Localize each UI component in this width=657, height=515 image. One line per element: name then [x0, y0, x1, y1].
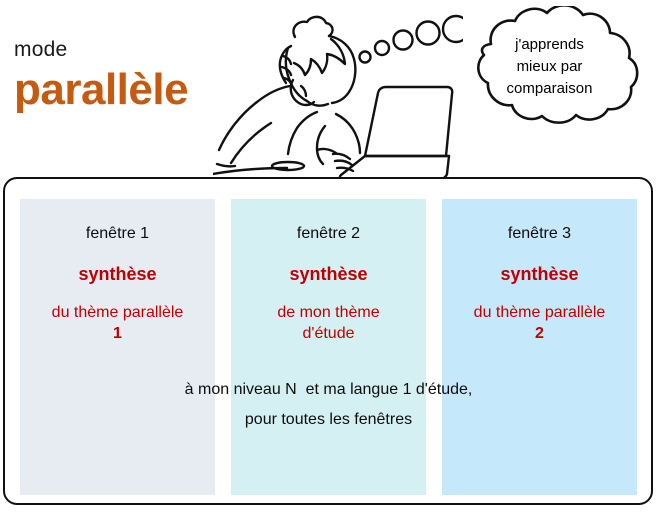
mode-label: mode — [14, 38, 67, 62]
theme-description-1: du thème parallèle 1 — [20, 302, 215, 344]
main-panel: fenêtre 1 synthèse du thème parallèle 1 … — [3, 177, 653, 505]
theme-description-3: du thème parallèle 2 — [442, 302, 637, 344]
window-label-1: fenêtre 1 — [20, 225, 215, 243]
window-label-3: fenêtre 3 — [442, 225, 637, 243]
window-column-2[interactable]: fenêtre 2 synthèse de mon thème d'étude — [231, 199, 426, 495]
synthese-heading-3: synthèse — [442, 264, 637, 285]
thought-bubble: j'apprends mieux par comparaison — [447, 6, 652, 136]
window-column-3[interactable]: fenêtre 3 synthèse du thème parallèle 2 — [442, 199, 637, 495]
synthese-heading-1: synthèse — [20, 264, 215, 285]
theme-number-2: d'étude — [303, 325, 355, 342]
theme-number-3: 2 — [535, 325, 544, 342]
theme-number-1: 1 — [113, 325, 122, 342]
header-area: mode parallèle — [0, 0, 657, 177]
page-title: parallèle — [14, 68, 188, 112]
theme-description-2: de mon thème d'étude — [231, 302, 426, 344]
window-label-2: fenêtre 2 — [231, 225, 426, 243]
theme-text-3: du thème parallèle — [474, 304, 606, 321]
window-column-1[interactable]: fenêtre 1 synthèse du thème parallèle 1 — [20, 199, 215, 495]
synthese-heading-2: synthèse — [231, 264, 426, 285]
window-columns: fenêtre 1 synthèse du thème parallèle 1 … — [20, 199, 637, 495]
theme-text-1: du thème parallèle — [52, 304, 184, 321]
person-studying-at-laptop-illustration — [213, 4, 463, 177]
theme-text-2: de mon thème — [277, 304, 379, 321]
